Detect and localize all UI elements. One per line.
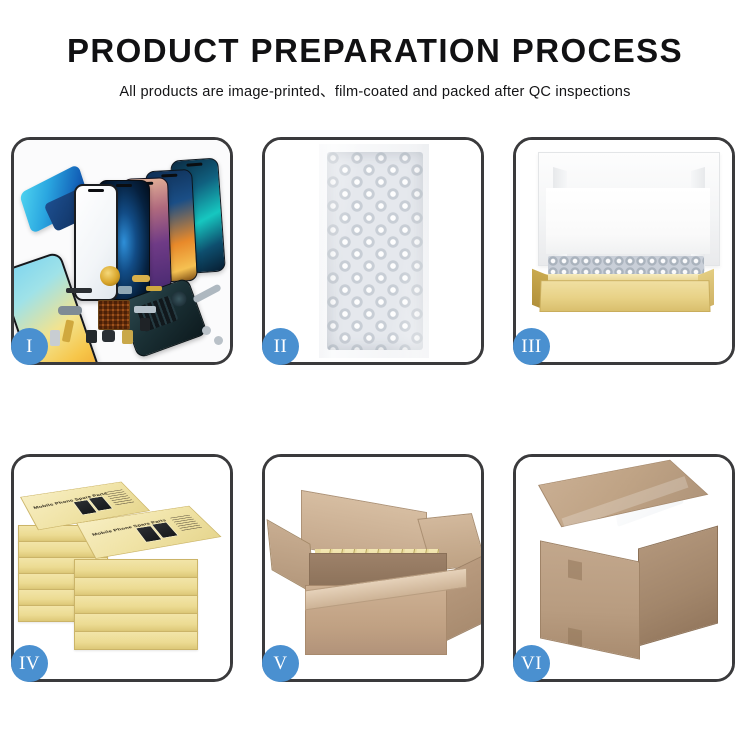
spare-part bbox=[134, 306, 156, 313]
phone-parts-illustration bbox=[14, 140, 230, 362]
notch-icon bbox=[161, 174, 177, 178]
foam-padding bbox=[546, 188, 710, 254]
spare-part bbox=[58, 306, 82, 315]
step-1-image bbox=[14, 140, 230, 362]
spare-part bbox=[86, 330, 97, 343]
box-stack: Mobile Phone Spare Parts Mobile Phone Sp… bbox=[14, 457, 230, 679]
carton-handle-cut bbox=[568, 628, 582, 647]
spare-part bbox=[118, 286, 132, 294]
sealed-carton-illustration bbox=[516, 457, 732, 679]
spare-part bbox=[140, 318, 150, 331]
step-badge-5: V bbox=[262, 645, 299, 682]
stacked-box bbox=[74, 577, 198, 596]
notch-icon bbox=[88, 189, 104, 192]
stacked-box bbox=[74, 631, 198, 650]
box-front-yellow bbox=[539, 280, 710, 312]
step-6-image bbox=[516, 457, 732, 679]
step-badge-3: III bbox=[513, 328, 550, 365]
spare-part bbox=[122, 330, 133, 344]
process-step-2[interactable]: II bbox=[262, 137, 484, 365]
process-step-6[interactable]: VI bbox=[513, 454, 735, 682]
spare-part bbox=[132, 275, 150, 282]
spare-part bbox=[102, 330, 115, 342]
spare-part bbox=[192, 283, 222, 303]
step-2-image bbox=[265, 140, 481, 362]
step-badge-2: II bbox=[262, 328, 299, 365]
process-step-5[interactable]: V bbox=[262, 454, 484, 682]
carton-handle-cut bbox=[568, 560, 582, 581]
step-4-image: Mobile Phone Spare Parts Mobile Phone Sp… bbox=[14, 457, 230, 679]
connector-chip-grid bbox=[98, 300, 130, 330]
box-spec-lines bbox=[170, 515, 204, 533]
carton-right-face bbox=[638, 526, 718, 647]
screw bbox=[202, 326, 211, 335]
step-badge-4: IV bbox=[11, 645, 48, 682]
screw bbox=[214, 336, 223, 345]
spare-part bbox=[66, 288, 92, 293]
step-badge-6: VI bbox=[513, 645, 550, 682]
carton-front-face bbox=[540, 540, 640, 659]
notch-icon bbox=[186, 163, 202, 167]
spare-part bbox=[146, 286, 162, 291]
stacked-box bbox=[74, 595, 198, 614]
step-3-image bbox=[516, 140, 732, 362]
process-step-1[interactable]: I bbox=[11, 137, 233, 365]
page-title: PRODUCT PREPARATION PROCESS bbox=[0, 34, 750, 69]
inner-box-illustration bbox=[516, 140, 732, 362]
page-header: PRODUCT PREPARATION PROCESS All products… bbox=[0, 0, 750, 101]
plastic-sheen bbox=[319, 144, 429, 358]
step-5-image bbox=[265, 457, 481, 679]
wireless-charging-coil bbox=[100, 266, 120, 286]
page-subtitle: All products are image-printed、film-coat… bbox=[0, 80, 750, 101]
process-step-4[interactable]: Mobile Phone Spare Parts Mobile Phone Sp… bbox=[11, 454, 233, 682]
notch-icon bbox=[116, 184, 132, 187]
process-step-3[interactable]: III bbox=[513, 137, 735, 365]
open-carton-illustration bbox=[265, 457, 481, 679]
stacked-box bbox=[74, 613, 198, 632]
stacked-box bbox=[74, 559, 198, 578]
step-badge-1: I bbox=[11, 328, 48, 365]
process-step-grid: I II bbox=[11, 137, 739, 682]
bubble-wrap-illustration bbox=[265, 140, 481, 362]
stacked-boxes-illustration: Mobile Phone Spare Parts Mobile Phone Sp… bbox=[14, 457, 230, 679]
spare-part bbox=[50, 330, 60, 346]
